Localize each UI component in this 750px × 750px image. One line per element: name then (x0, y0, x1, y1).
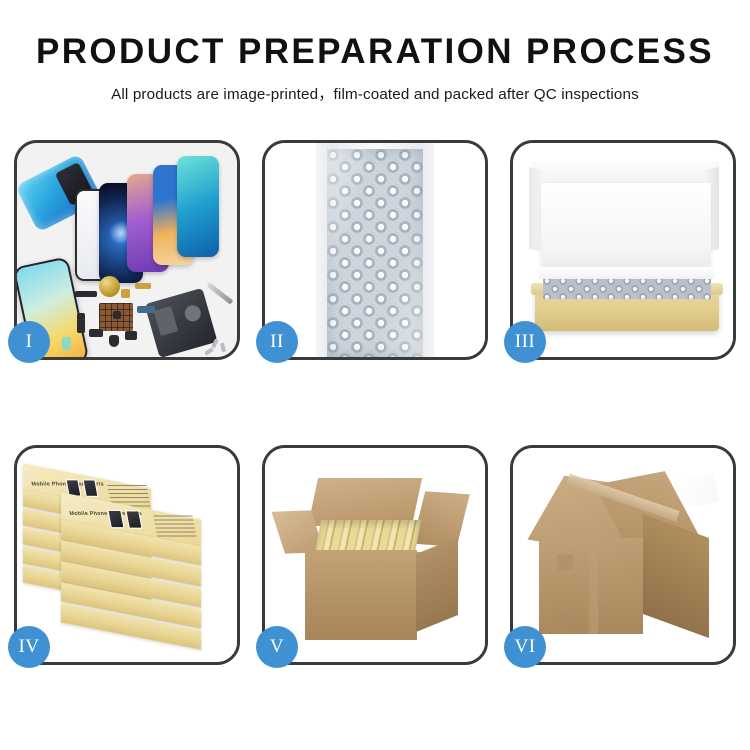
page-subtitle: All products are image-printed，film-coat… (0, 82, 750, 104)
carton-flap-back (308, 478, 422, 526)
process-steps-grid: I II III (14, 140, 736, 665)
small-chip-part (113, 311, 121, 319)
ribbon-cable-part (137, 306, 155, 313)
screw-part (220, 343, 226, 353)
step-badge-5: V (256, 626, 298, 668)
bubble-sheen (327, 149, 423, 357)
logic-board-part (144, 288, 217, 357)
retail-box-spec-text (153, 515, 196, 537)
bubble-grid (327, 149, 423, 357)
packing-tape-front (589, 538, 598, 634)
step-panel-3: III (510, 140, 736, 360)
step-badge-1: I (8, 321, 50, 363)
step-badge-4: IV (8, 626, 50, 668)
flex-cable-part (77, 313, 85, 333)
page-title: PRODUCT PREPARATION PROCESS (0, 34, 750, 71)
step-panel-6: VI (510, 445, 736, 665)
screw-part (204, 347, 214, 355)
step-panel-2: II (262, 140, 488, 360)
carton-side-face (416, 537, 458, 632)
phone-screen-teal (177, 156, 219, 257)
tray-bubble-wrap (543, 277, 711, 299)
carton-front-face (305, 550, 417, 640)
step-badge-2: II (256, 321, 298, 363)
carton-flap-right (412, 491, 470, 547)
sim-tray-part (62, 337, 71, 350)
step-badge-6: VI (504, 626, 546, 668)
camera-module-part (125, 331, 137, 340)
packing-tape-tab (557, 554, 573, 570)
step-panel-4: Mobile Phone Spare Parts Mobile Phone Sp… (14, 445, 240, 665)
packing-tape-tab (557, 610, 573, 626)
tweezers-icon (207, 282, 234, 304)
step-1-image (17, 143, 237, 357)
connector-part (89, 329, 103, 337)
step-2-image (265, 143, 485, 357)
step-3-image (513, 143, 733, 357)
gold-contact-part (121, 289, 130, 298)
step-4-image: Mobile Phone Spare Parts Mobile Phone Sp… (17, 448, 237, 662)
flex-cable-part (75, 291, 97, 297)
step-panel-1: I (14, 140, 240, 360)
header: PRODUCT PREPARATION PROCESS All products… (0, 0, 750, 104)
gold-contact-part (135, 283, 151, 289)
step-5-image (265, 448, 485, 662)
box-lid-face (541, 183, 711, 275)
sealed-carton-side-face (643, 514, 709, 638)
tray-foam-sheet (539, 267, 715, 279)
step-panel-5: V (262, 445, 488, 665)
retail-box-stack: Mobile Phone Spare Parts Mobile Phone Sp… (23, 468, 237, 654)
speaker-coil-part (99, 276, 120, 297)
step-badge-3: III (504, 321, 546, 363)
speaker-part (109, 335, 119, 347)
step-6-image (513, 448, 733, 662)
bubble-wrap-sleeve (316, 143, 434, 357)
